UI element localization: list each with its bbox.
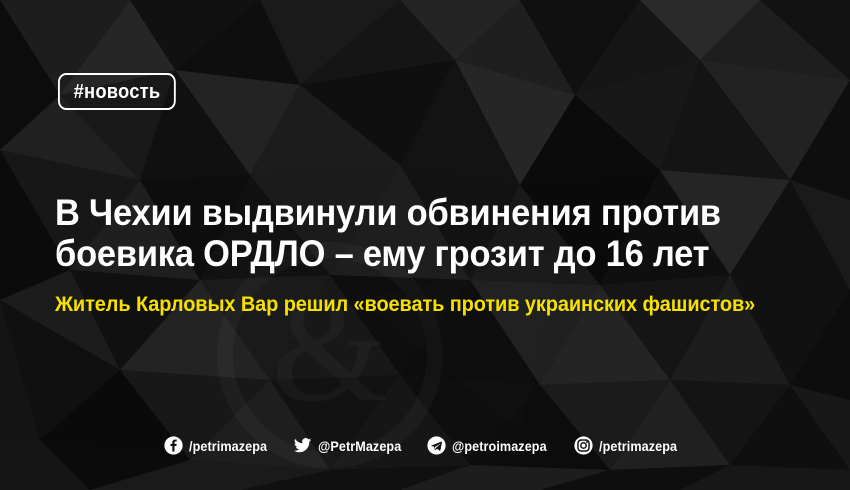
telegram-handle: @petroimazepa <box>452 439 547 453</box>
news-card: & #новость В Чехии выдвинули обвинения п… <box>0 0 850 490</box>
category-badge[interactable]: #новость <box>58 73 176 110</box>
headline-line-2: боевика ОРДЛО – ему грозит до 16 лет <box>55 233 706 274</box>
social-item-instagram[interactable]: /petrimazepa <box>574 436 686 455</box>
twitter-icon <box>293 436 312 455</box>
social-item-twitter[interactable]: @PetrMazepa <box>293 436 411 455</box>
twitter-handle: @PetrMazepa <box>318 439 401 453</box>
telegram-icon <box>427 436 446 455</box>
facebook-icon <box>164 436 183 455</box>
headline: В Чехии выдвинули обвинения против боеви… <box>55 192 706 274</box>
social-item-facebook[interactable]: /petrimazepa <box>164 436 276 455</box>
facebook-handle: /petrimazepa <box>189 439 267 453</box>
subtitle: Житель Карловых Вар решил «воевать проти… <box>55 292 755 318</box>
headline-line-1: В Чехии выдвинули обвинения против <box>55 192 706 233</box>
instagram-icon <box>574 436 593 455</box>
social-item-telegram[interactable]: @petroimazepa <box>427 436 557 455</box>
social-footer: /petrimazepa @PetrMazepa @petroimazepa <box>0 436 850 455</box>
instagram-handle: /petrimazepa <box>599 439 677 453</box>
category-badge-label: #новость <box>74 82 161 102</box>
